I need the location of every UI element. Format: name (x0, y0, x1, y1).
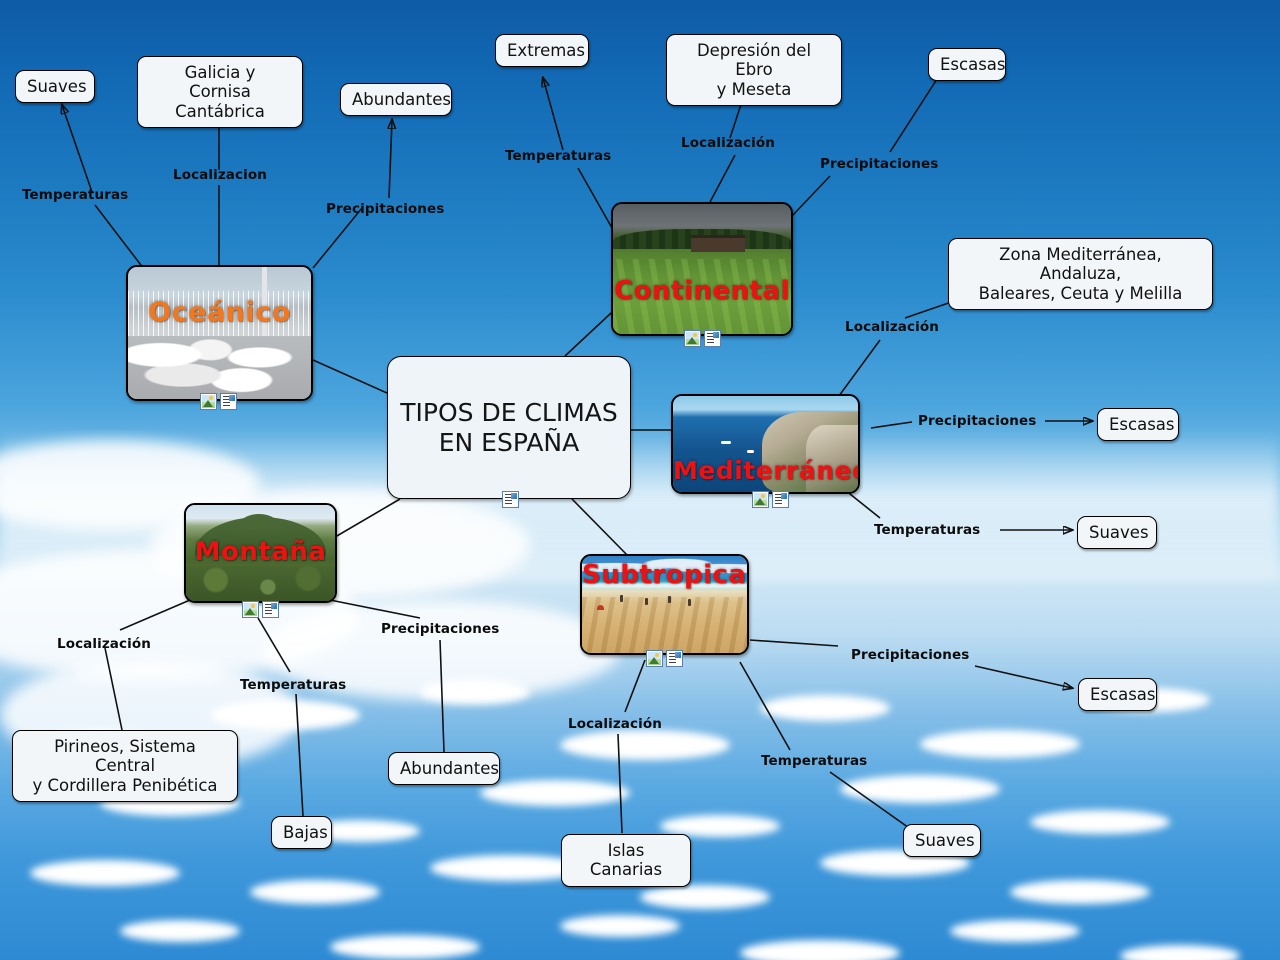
leaf-subtropical-temperaturas[interactable]: Suaves (903, 824, 981, 857)
climate-node-subtropical[interactable]: Subtropical (580, 554, 749, 655)
link-montana-temperaturas (258, 618, 290, 672)
link-subtropical-precipitaciones (750, 640, 838, 646)
center-node-icons[interactable] (502, 491, 519, 508)
leaf-oceanico-localizacion[interactable]: Galicia y Cornisa Cantábrica (137, 56, 303, 128)
note-icon[interactable] (502, 491, 519, 508)
climate-label-continental: Continental (613, 276, 791, 306)
leaf-oceanico-precipitaciones[interactable]: Abundantes (340, 83, 452, 116)
image-icon[interactable] (752, 491, 769, 508)
link-montana-precipitaciones-line2 (440, 640, 444, 752)
leaf-mediterraneo-temperaturas[interactable]: Suaves (1077, 516, 1157, 549)
climate-node-continental[interactable]: Continental (611, 202, 793, 336)
mediterraneo-node-icons[interactable] (752, 491, 789, 508)
relation-label-oceanico-temperaturas: Temperaturas (22, 187, 128, 203)
link-subtropical-localizacion-line2 (618, 734, 622, 833)
link-subtropical-precipitaciones-arrow (975, 666, 1072, 688)
leaf-montana-precipitaciones[interactable]: Abundantes (388, 752, 500, 785)
link-continental-precipitaciones (792, 176, 830, 216)
climate-label-montana: Montaña (186, 537, 335, 567)
relation-label-subtropical-temperaturas: Temperaturas (761, 753, 867, 769)
relation-label-montana-localizacion: Localización (57, 636, 151, 652)
relation-label-oceanico-localizacion: Localizacion (173, 167, 267, 183)
relation-label-continental-localizacion: Localización (681, 135, 775, 151)
link-oceanico-temperaturas-arrow (62, 105, 92, 192)
marina-photo (128, 267, 311, 399)
note-icon[interactable] (772, 491, 789, 508)
relation-label-subtropical-precipitaciones: Precipitaciones (851, 647, 969, 663)
central-topic-label: TIPOS DE CLIMAS EN ESPAÑA (400, 398, 618, 457)
link-subtropical-temperaturas-line2 (830, 772, 912, 830)
leaf-subtropical-localizacion[interactable]: Islas Canarias (561, 834, 691, 887)
link-continental-temperaturas (578, 168, 612, 228)
link-mediterraneo-temperaturas (845, 490, 880, 518)
link-center-oceanico (313, 360, 387, 393)
climate-label-subtropical: Subtropical (582, 560, 747, 590)
link-continental-temperaturas-arrow (543, 78, 563, 150)
link-mediterraneo-precipitaciones (871, 422, 912, 428)
note-icon[interactable] (666, 650, 683, 667)
central-topic-node[interactable]: TIPOS DE CLIMAS EN ESPAÑA (387, 356, 631, 499)
mindmap-canvas: TIPOS DE CLIMAS EN ESPAÑA Oceánico Conti… (0, 0, 1280, 960)
climate-label-oceanico: Oceánico (128, 297, 311, 328)
montana-node-icons[interactable] (242, 601, 279, 618)
leaf-mediterraneo-precipitaciones[interactable]: Escasas (1097, 408, 1179, 441)
link-continental-localizacion (710, 155, 735, 202)
leaf-montana-localizacion[interactable]: Pirineos, Sistema Central y Cordillera P… (12, 730, 238, 802)
link-montana-precipitaciones (330, 600, 420, 618)
link-center-montana (330, 499, 400, 540)
link-oceanico-precipitaciones (313, 208, 362, 268)
leaf-continental-temperaturas[interactable]: Extremas (495, 34, 589, 67)
relation-label-montana-precipitaciones: Precipitaciones (381, 621, 499, 637)
continental-node-icons[interactable] (684, 330, 721, 347)
relation-label-montana-temperaturas: Temperaturas (240, 677, 346, 693)
relation-label-continental-precipitaciones: Precipitaciones (820, 156, 938, 172)
relation-label-oceanico-precipitaciones: Precipitaciones (326, 201, 444, 217)
relation-label-subtropical-localizacion: Localización (568, 716, 662, 732)
link-montana-temperaturas-line2 (296, 694, 303, 816)
link-subtropical-temperaturas (740, 662, 790, 750)
note-icon[interactable] (220, 393, 237, 410)
relation-label-continental-temperaturas: Temperaturas (505, 148, 611, 164)
relation-label-mediterraneo-temperaturas: Temperaturas (874, 522, 980, 538)
field-photo (613, 204, 791, 334)
note-icon[interactable] (704, 330, 721, 347)
leaf-oceanico-temperaturas[interactable]: Suaves (15, 70, 95, 103)
climate-node-montana[interactable]: Montaña (184, 503, 337, 603)
climate-node-oceanico[interactable]: Oceánico (126, 265, 313, 401)
image-icon[interactable] (242, 601, 259, 618)
link-montana-localizacion (120, 600, 190, 630)
leaf-subtropical-precipitaciones[interactable]: Escasas (1078, 678, 1157, 711)
image-icon[interactable] (200, 393, 217, 410)
relation-label-mediterraneo-localizacion: Localización (845, 319, 939, 335)
leaf-montana-temperaturas[interactable]: Bajas (271, 816, 332, 849)
image-icon[interactable] (646, 650, 663, 667)
relation-label-mediterraneo-precipitaciones: Precipitaciones (918, 413, 1036, 429)
climate-node-mediterraneo[interactable]: Mediterráneo (671, 394, 860, 494)
subtropical-node-icons[interactable] (646, 650, 683, 667)
link-mediterraneo-localizacion (836, 340, 880, 400)
connector-lines (0, 0, 1280, 960)
leaf-mediterraneo-localizacion[interactable]: Zona Mediterránea, Andaluza, Baleares, C… (948, 238, 1213, 310)
note-icon[interactable] (262, 601, 279, 618)
link-center-subtropical (572, 499, 632, 560)
image-icon[interactable] (684, 330, 701, 347)
oceanico-node-icons[interactable] (200, 393, 237, 410)
leaf-continental-precipitaciones[interactable]: Escasas (928, 48, 1006, 81)
link-montana-localizacion-line2 (105, 648, 122, 730)
leaf-continental-localizacion[interactable]: Depresión del Ebro y Meseta (666, 34, 842, 106)
climate-label-mediterraneo: Mediterráneo (673, 456, 858, 485)
link-subtropical-localizacion (625, 660, 645, 712)
link-oceanico-precipitaciones-arrow (389, 120, 392, 198)
